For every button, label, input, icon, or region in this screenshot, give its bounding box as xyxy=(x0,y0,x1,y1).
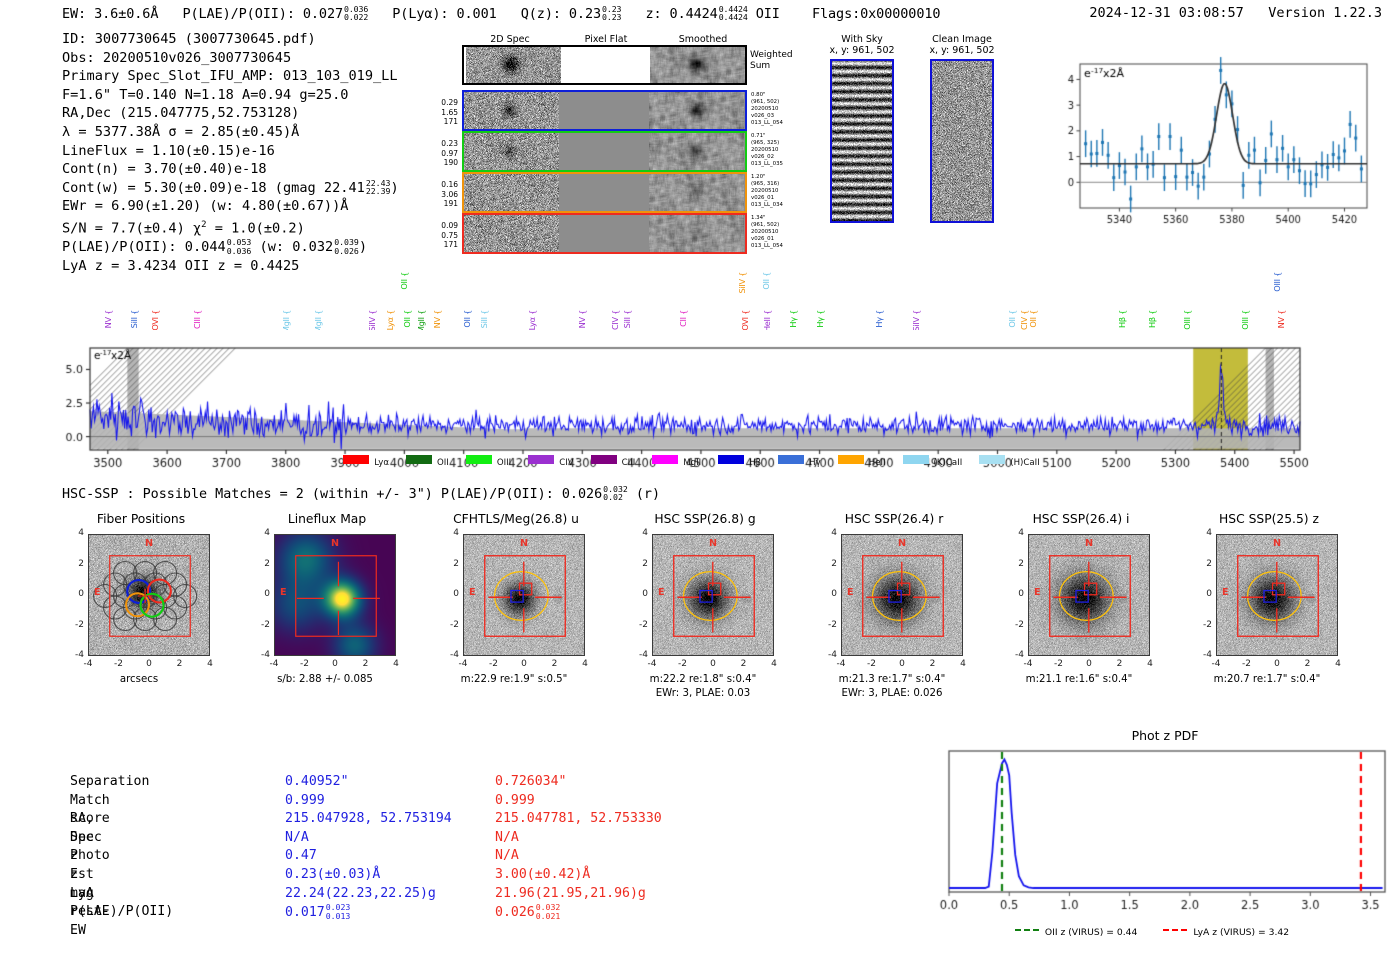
qz-lo: 0.23 xyxy=(602,12,621,22)
legend-swatch xyxy=(838,455,864,464)
fiber-2dspec-image xyxy=(464,133,559,170)
emission-line-label: CIII { xyxy=(192,310,202,329)
fiber-info-line: 1.34" xyxy=(751,215,783,222)
cutout-xtick: 2 xyxy=(1110,659,1130,669)
fiber-info-line: 0.80" xyxy=(751,92,783,99)
table-row-label: P(LAE)/P(OII) xyxy=(70,903,173,922)
cutout-ytick: 2 xyxy=(437,559,459,569)
emission-line-label: Hγ { xyxy=(874,310,884,328)
plae-value: 0.027 xyxy=(303,6,343,22)
cutout-ytick: 2 xyxy=(248,559,270,569)
table-cell-blue: 0.999 xyxy=(285,792,325,811)
legend-swatch xyxy=(903,455,929,464)
emission-line-label: Hγ { xyxy=(815,310,825,328)
emission-line-label: OII { xyxy=(761,272,771,290)
cutout-ytick: 0 xyxy=(248,589,270,599)
emission-line-label: Hγ { xyxy=(788,310,798,328)
cutout-xtick: -2 xyxy=(295,659,315,669)
cutout-canvas xyxy=(275,535,396,656)
fiber-value: 171 xyxy=(430,117,458,127)
cutout-ytick: 4 xyxy=(1190,528,1212,538)
legend-swatch xyxy=(528,455,554,464)
cutout-image[interactable] xyxy=(841,534,963,656)
emission-line-label: SiIV { xyxy=(737,272,747,294)
cutout-xtick: -4 xyxy=(78,659,98,669)
table-row-label: mag xyxy=(70,885,94,904)
cutout-title: HSC SSP(25.5) z xyxy=(1176,512,1362,526)
fiber-value: 0.29 xyxy=(430,98,458,108)
cutout-footer: m:22.9 re:1.9" s:0.5" xyxy=(421,674,607,685)
emission-line-label: SiII { xyxy=(129,310,139,328)
emission-line-label: Lyα { xyxy=(385,310,395,330)
cutout-xtick: -2 xyxy=(484,659,504,669)
emission-line-label: Lyα { xyxy=(527,310,537,330)
compass-north: N xyxy=(1085,538,1093,549)
cutout-xtick: 4 xyxy=(575,659,595,669)
with-sky-subtitle: x, y: 961, 502 xyxy=(822,45,902,56)
cutout-ytick: 2 xyxy=(1190,559,1212,569)
cutout-title: Fiber Positions xyxy=(48,512,234,526)
legend-item: CIV xyxy=(528,455,573,468)
cutout-image[interactable] xyxy=(652,534,774,656)
fiber-info-line: 013_LL_054 xyxy=(751,120,783,127)
fiber-weight-values: 0.291.65171 xyxy=(430,98,458,127)
table-cell-blue: 0.40952" xyxy=(285,773,349,792)
emission-line-label: CIV { xyxy=(610,310,620,330)
compass-east: E xyxy=(1222,587,1229,598)
emission-line-label: OII { xyxy=(399,272,409,290)
legend-label: OIII xyxy=(497,458,511,468)
spec2d-title-smoothed: Smoothed xyxy=(655,34,751,45)
cutout-xtick: 4 xyxy=(386,659,406,669)
cutout-ytick: 0 xyxy=(437,589,459,599)
photz-legend: OII z (VIRUS) = 0.44LyA z (VIRUS) = 3.42 xyxy=(935,920,1395,939)
meta-seeing: F=1.6" T=0.140 N=1.18 A=0.94 g=25.0 xyxy=(62,86,399,105)
fiber-info-label: 1.20"(965, 316)20200510v026_01013_LL_034 xyxy=(751,174,783,209)
cutout-image[interactable] xyxy=(1216,534,1338,656)
fiber-info-label: 1.34"(961, 502)20200510v026_01013_LL_054 xyxy=(751,215,783,250)
fiber-info-line: 20200510 xyxy=(751,229,783,236)
hsc-ssp-match-line: HSC-SSP : Possible Matches = 2 (within +… xyxy=(62,485,660,502)
table-cell-blue: 22.24(22.23,22.25)g xyxy=(285,885,436,904)
fiber-info-line: 20200510 xyxy=(751,106,783,113)
ew-value: 3.6±0.6Å xyxy=(94,6,158,22)
fiber-info-line: 20200510 xyxy=(751,147,783,154)
cutout-ytick: -2 xyxy=(815,620,837,630)
flags-label: Flags:0x00000010 xyxy=(812,6,940,22)
legend-swatch xyxy=(652,455,678,464)
compass-north: N xyxy=(145,538,153,549)
cutout-ytick: 2 xyxy=(1002,559,1024,569)
meta-id: ID: 3007730645 (3007730645.pdf) xyxy=(62,30,399,49)
emission-line-label: SiIV { xyxy=(367,310,377,332)
legend-label: Hβ xyxy=(749,458,761,468)
emission-line-label: NV { xyxy=(432,310,442,328)
plae-lo: 0.022 xyxy=(344,12,368,22)
cutout-canvas xyxy=(1029,535,1150,656)
cutout-xtick: -4 xyxy=(1018,659,1038,669)
emission-line-label: OII { xyxy=(402,310,412,328)
cutout-ytick: 0 xyxy=(1002,589,1024,599)
cutout-xtick: 0 xyxy=(1267,659,1287,669)
cutout-xtick: 2 xyxy=(734,659,754,669)
qz-value: 0.23 xyxy=(569,6,601,22)
cutout-xtick: 0 xyxy=(514,659,534,669)
compass-north: N xyxy=(898,538,906,549)
table-cell-red: N/A xyxy=(495,829,519,848)
table-cell-red: 21.96(21.95,21.96)g xyxy=(495,885,646,904)
emission-line-label: OVI { xyxy=(150,310,160,331)
fiber-smoothed-image xyxy=(649,174,744,211)
emission-line-label: Hβ { xyxy=(1147,310,1157,328)
legend-swatch xyxy=(979,455,1005,464)
fiber-2dspec-image xyxy=(464,92,559,129)
cutout-xtick: -4 xyxy=(1206,659,1226,669)
meta-primary-slot: Primary Spec_Slot_IFU_AMP: 013_103_019_L… xyxy=(62,67,399,86)
fiber-2dspec-image xyxy=(464,174,559,211)
legend-item: (H)CaII xyxy=(979,455,1040,468)
fiber-info-line: 013_LL_035 xyxy=(751,161,783,168)
cutout-xtick: 4 xyxy=(953,659,973,669)
meta-cont-w: Cont(w) = 5.30(±0.09)e-18 (gmag 22.4122.… xyxy=(62,179,399,198)
cutout-xtick: 2 xyxy=(923,659,943,669)
legend-swatch xyxy=(406,455,432,464)
cutout-canvas xyxy=(653,535,774,656)
cutout-image[interactable] xyxy=(274,534,396,656)
meta-radec: RA,Dec (215.047775,52.753128) xyxy=(62,104,399,123)
z-label: z: xyxy=(645,6,661,22)
compass-east: E xyxy=(94,587,101,598)
cutout-xtick: 4 xyxy=(1140,659,1160,669)
cutout-title: Lineflux Map xyxy=(234,512,420,526)
photz-legend-swatch xyxy=(1163,929,1187,931)
with-sky-panel: With Sky x, y: 961, 502 xyxy=(822,34,902,223)
fiber-info-line: (961, 502) xyxy=(751,222,783,229)
photz-panel: Phot z PDF OII z (VIRUS) = 0.44LyA z (VI… xyxy=(935,728,1395,939)
cutout-canvas xyxy=(842,535,963,656)
emission-line-label: OVI { xyxy=(740,310,750,331)
compass-north: N xyxy=(331,538,339,549)
fiber-value: 1.65 xyxy=(430,108,458,118)
emission-line-label: NV { xyxy=(103,310,113,328)
cutout-ytick: 0 xyxy=(1190,589,1212,599)
emission-line-label: NV { xyxy=(577,310,587,328)
cutout-ytick: -2 xyxy=(626,620,648,630)
cutout-xtick: -2 xyxy=(1237,659,1257,669)
cutout-xtick: 0 xyxy=(703,659,723,669)
cutout-image[interactable] xyxy=(463,534,585,656)
table-cell-blue: 0.23(±0.03)Å xyxy=(285,866,380,885)
table-cell-blue: 0.47 xyxy=(285,847,317,866)
cutout-ytick: 0 xyxy=(626,589,648,599)
emission-line-label: OIII { xyxy=(1182,310,1192,330)
photz-legend-label: OII z (VIRUS) = 0.44 xyxy=(1045,927,1137,938)
table-cell-red: 215.047781, 52.753330 xyxy=(495,810,662,829)
compass-east: E xyxy=(658,587,665,598)
cutout-title: HSC SSP(26.8) g xyxy=(612,512,798,526)
legend-label: (K)CaII xyxy=(934,458,963,468)
fiber-value: 0.23 xyxy=(430,139,458,149)
emission-line-label: NV { xyxy=(1276,310,1286,328)
photz-legend-swatch xyxy=(1015,929,1039,931)
fiber-strip[interactable] xyxy=(462,131,747,172)
compass-east: E xyxy=(1034,587,1041,598)
legend-label: CIV xyxy=(559,458,573,468)
ew-label: EW: xyxy=(62,6,86,22)
emission-line-label: OIII { xyxy=(1272,272,1282,292)
cutout-xtick: 2 xyxy=(1298,659,1318,669)
photz-legend-item: LyA z (VIRUS) = 3.42 xyxy=(1163,927,1289,938)
table-cell-blue: 0.0170.0230.013 xyxy=(285,903,350,922)
legend-swatch xyxy=(343,455,369,464)
cutout-xtick: -2 xyxy=(673,659,693,669)
cutout-canvas xyxy=(89,535,210,656)
fiber-info-line: 0.71" xyxy=(751,133,783,140)
cutout-footer: m:22.2 re:1.8" s:0.4" xyxy=(610,674,796,685)
legend-item: OIII xyxy=(466,455,511,468)
fiber-info-line: (965, 316) xyxy=(751,181,783,188)
source-metadata-block: ID: 3007730645 (3007730645.pdf) Obs: 202… xyxy=(62,30,399,275)
legend-item: CIII xyxy=(591,455,636,468)
spectrum-panel: NV {SiII {OVI {CIII {MgII {MgII {SiIV {L… xyxy=(0,270,1400,480)
cutout-ytick: 2 xyxy=(626,559,648,569)
fiber-info-line: v026_02 xyxy=(751,154,783,161)
emission-line-label: OII { xyxy=(1028,310,1038,328)
cutout-footer: m:20.7 re:1.7" s:0.4" xyxy=(1174,674,1360,685)
fiber-value: 0.75 xyxy=(430,231,458,241)
cutout-ytick: 4 xyxy=(626,528,648,538)
plya-label: P(Lyα): xyxy=(392,6,448,22)
qz-label: Q(z): xyxy=(521,6,561,22)
legend-label: Lyα xyxy=(374,458,389,468)
cutout-footer: s/b: 2.88 +/- 0.085 xyxy=(232,674,418,685)
cutout-xtick: 2 xyxy=(170,659,190,669)
table-cell-red: 0.999 xyxy=(495,792,535,811)
cutout-xtick: 4 xyxy=(200,659,220,669)
legend-label: HeII xyxy=(869,458,886,468)
fiber-value: 171 xyxy=(430,240,458,250)
legend-item: Hβ xyxy=(718,455,761,468)
cutout-title: CFHTLS/Meg(26.8) u xyxy=(423,512,609,526)
cutout-ytick: -2 xyxy=(437,620,459,630)
legend-label: CIII xyxy=(622,458,636,468)
legend-swatch xyxy=(718,455,744,464)
meta-lineflux: LineFlux = 1.10(±0.15)e-16 xyxy=(62,142,399,161)
clean-image-title: Clean Image xyxy=(922,34,1002,45)
emission-line-label: SiII { xyxy=(479,310,489,328)
cutout-footer-2: EWr: 3, PLAE: 0.03 xyxy=(610,688,796,699)
cutout-xtick: 0 xyxy=(325,659,345,669)
cutout-xtick: 4 xyxy=(1328,659,1348,669)
meta-ewr: EWr = 6.90(±1.20) (w: 4.80(±0.67))Å xyxy=(62,197,399,216)
legend-item: (K)CaII xyxy=(903,455,963,468)
cutout-ytick: 2 xyxy=(815,559,837,569)
legend-label: MgII xyxy=(683,458,701,468)
fiber-2dspec-image xyxy=(464,215,559,252)
fiber-value: 190 xyxy=(430,158,458,168)
hsc-plae-value: 0.026 xyxy=(562,487,602,502)
cutout-footer: m:21.1 re:1.6" s:0.4" xyxy=(986,674,1172,685)
cutout-xtick: -4 xyxy=(453,659,473,669)
legend-item: Lyα xyxy=(343,455,389,468)
meta-cont-n: Cont(n) = 3.70(±0.40)e-18 xyxy=(62,160,399,179)
cutout-ytick: 0 xyxy=(62,589,84,599)
legend-item: HeII xyxy=(838,455,886,468)
cutout-ytick: 0 xyxy=(815,589,837,599)
emission-line-label: OIII { xyxy=(1240,310,1250,330)
fiber-strip[interactable] xyxy=(462,90,747,131)
legend-swatch xyxy=(466,455,492,464)
fiber-strip[interactable] xyxy=(462,213,747,254)
compass-east: E xyxy=(280,587,287,598)
cutout-canvas xyxy=(1217,535,1338,656)
table-cell-red: 0.726034" xyxy=(495,773,566,792)
emission-line-label: OII { xyxy=(1007,310,1017,328)
fiber-weight-values: 0.090.75171 xyxy=(430,221,458,250)
weighted-sum-label: Weighted Sum xyxy=(750,50,793,72)
fiber-info-line: 1.20" xyxy=(751,174,783,181)
legend-swatch xyxy=(778,455,804,464)
plae-label: P(LAE)/P(OII): xyxy=(182,6,294,22)
meta-wavelength: λ = 5377.38Å σ = 2.85(±0.45)Å xyxy=(62,123,399,142)
spec2d-title-pixelflat: Pixel Flat xyxy=(558,34,654,45)
weighted-sum-strip xyxy=(462,45,747,85)
table-cell-red: N/A xyxy=(495,847,519,866)
fiber-weight-values: 0.230.97190 xyxy=(430,139,458,168)
cutout-title: HSC SSP(26.4) i xyxy=(988,512,1174,526)
fiber-info-line: 013_LL_054 xyxy=(751,243,783,250)
cutout-ytick: -2 xyxy=(248,620,270,630)
cutout-ytick: 2 xyxy=(62,559,84,569)
cutout-xtick: 0 xyxy=(139,659,159,669)
clean-image-panel: Clean Image x, y: 961, 502 xyxy=(922,34,1002,223)
fiber-info-line: 013_LL_034 xyxy=(751,202,783,209)
cutout-xtick: 0 xyxy=(1079,659,1099,669)
cutout-ytick: 4 xyxy=(1002,528,1024,538)
cutout-footer-2: EWr: 3, PLAE: 0.026 xyxy=(799,688,985,699)
compass-north: N xyxy=(709,538,717,549)
header-summary-line: EW: 3.6±0.6Å P(LAE)/P(OII): 0.0270.0360.… xyxy=(62,5,940,22)
cutout-ytick: -2 xyxy=(1002,620,1024,630)
cutout-xtick: -4 xyxy=(642,659,662,669)
fiber-info-label: 0.71"(965, 325)20200510v026_02013_LL_035 xyxy=(751,133,783,168)
fiber-smoothed-image xyxy=(649,133,744,170)
with-sky-title: With Sky xyxy=(822,34,902,45)
fiber-value: 0.09 xyxy=(430,221,458,231)
line-fit-plot xyxy=(1040,48,1375,252)
emission-line-label: SiIV { xyxy=(911,310,921,332)
legend-swatch xyxy=(591,455,617,464)
cutout-ytick: 4 xyxy=(437,528,459,538)
fiber-info-line: v026_03 xyxy=(751,113,783,120)
compass-north: N xyxy=(1273,538,1281,549)
compass-east: E xyxy=(847,587,854,598)
fiber-value: 0.16 xyxy=(430,180,458,190)
header-timestamp-version: 2024-12-31 03:08:57 Version 1.22.3 xyxy=(1089,5,1382,21)
photz-legend-item: OII z (VIRUS) = 0.44 xyxy=(1015,927,1137,938)
cutout-ytick: 4 xyxy=(815,528,837,538)
emission-line-label: Hβ { xyxy=(1117,310,1127,328)
legend-item: Hγ xyxy=(778,455,821,468)
fiber-info-line: (965, 325) xyxy=(751,140,783,147)
z-lo: 0.4424 xyxy=(719,12,748,22)
cutout-xtick: 0 xyxy=(892,659,912,669)
table-cell-red: 3.00(±0.42)Å xyxy=(495,866,590,885)
fiber-value: 191 xyxy=(430,199,458,209)
cutout-xtick: 2 xyxy=(356,659,376,669)
cutout-canvas xyxy=(464,535,585,656)
compass-east: E xyxy=(469,587,476,598)
z-species: OII xyxy=(756,6,780,22)
fiber-value: 0.97 xyxy=(430,149,458,159)
fiber-weight-values: 0.163.06191 xyxy=(430,180,458,209)
cutout-xtick: 4 xyxy=(764,659,784,669)
legend-label: OII xyxy=(437,458,449,468)
spec2d-title-2dspec: 2D Spec xyxy=(462,34,558,45)
fiber-smoothed-image xyxy=(649,215,744,252)
cutout-row: Fiber PositionsNE420-2-4-4-2024arcsecsLi… xyxy=(0,512,1400,727)
table-row-label: Separation xyxy=(70,773,149,792)
legend-label: Hγ xyxy=(809,458,821,468)
legend-item: OII xyxy=(406,455,449,468)
cutout-footer: arcsecs xyxy=(46,674,232,685)
emission-line-label: CII { xyxy=(678,310,688,327)
photz-legend-label: LyA z (VIRUS) = 3.42 xyxy=(1193,927,1289,938)
cutout-footer: m:21.3 re:1.7" s:0.4" xyxy=(799,674,985,685)
fiber-smoothed-image xyxy=(649,92,744,129)
fiber-value: 3.06 xyxy=(430,190,458,200)
fiber-info-label: 0.80"(961, 502)20200510v026_03013_LL_054 xyxy=(751,92,783,127)
clean-image-subtitle: x, y: 961, 502 xyxy=(922,45,1002,56)
legend-item: MgII xyxy=(652,455,701,468)
emission-line-label: SiII { xyxy=(622,310,632,328)
legend-label: (H)CaII xyxy=(1010,458,1040,468)
z-value: 0.4424 xyxy=(670,6,718,22)
plya-value: 0.001 xyxy=(457,6,497,22)
cutout-title: HSC SSP(26.4) r xyxy=(801,512,987,526)
cutout-xtick: -4 xyxy=(831,659,851,669)
table-cell-red: 0.0260.0320.021 xyxy=(495,903,560,922)
cutout-xtick: -2 xyxy=(109,659,129,669)
cutout-ytick: -2 xyxy=(62,620,84,630)
emission-line-label: OII { xyxy=(462,310,472,328)
cutout-xtick: -4 xyxy=(264,659,284,669)
fiber-info-line: (961, 502) xyxy=(751,99,783,106)
cutout-xtick: -2 xyxy=(862,659,882,669)
cutout-image[interactable] xyxy=(88,534,210,656)
fiber-info-line: v026_01 xyxy=(751,195,783,202)
fiber-info-line: 20200510 xyxy=(751,188,783,195)
emission-line-label: HeII { xyxy=(762,310,772,332)
fiber-info-line: v026_01 xyxy=(751,236,783,243)
meta-snr: S/N = 7.7(±0.4) χ2 = 1.0(±0.2) xyxy=(62,216,399,238)
meta-plae: P(LAE)/P(OII): 0.0440.0530.036 (w: 0.032… xyxy=(62,238,399,257)
timestamp: 2024-12-31 03:08:57 xyxy=(1089,5,1243,21)
compass-north: N xyxy=(520,538,528,549)
table-cell-blue: 215.047928, 52.753194 xyxy=(285,810,452,829)
cutout-ytick: 4 xyxy=(62,528,84,538)
cutout-xtick: 2 xyxy=(545,659,565,669)
fiber-strip[interactable] xyxy=(462,172,747,213)
meta-obs: Obs: 20200510v026_3007730645 xyxy=(62,49,399,68)
cutout-image[interactable] xyxy=(1028,534,1150,656)
table-cell-blue: N/A xyxy=(285,829,309,848)
spectrum-legend: LyαOIIOIIICIVCIIIMgIIHβHγHeII(K)CaII(H)C… xyxy=(0,450,1400,469)
cutout-xtick: -2 xyxy=(1049,659,1069,669)
version-label: Version 1.22.3 xyxy=(1268,5,1382,21)
photz-title: Phot z PDF xyxy=(935,728,1395,743)
cutout-ytick: 4 xyxy=(248,528,270,538)
